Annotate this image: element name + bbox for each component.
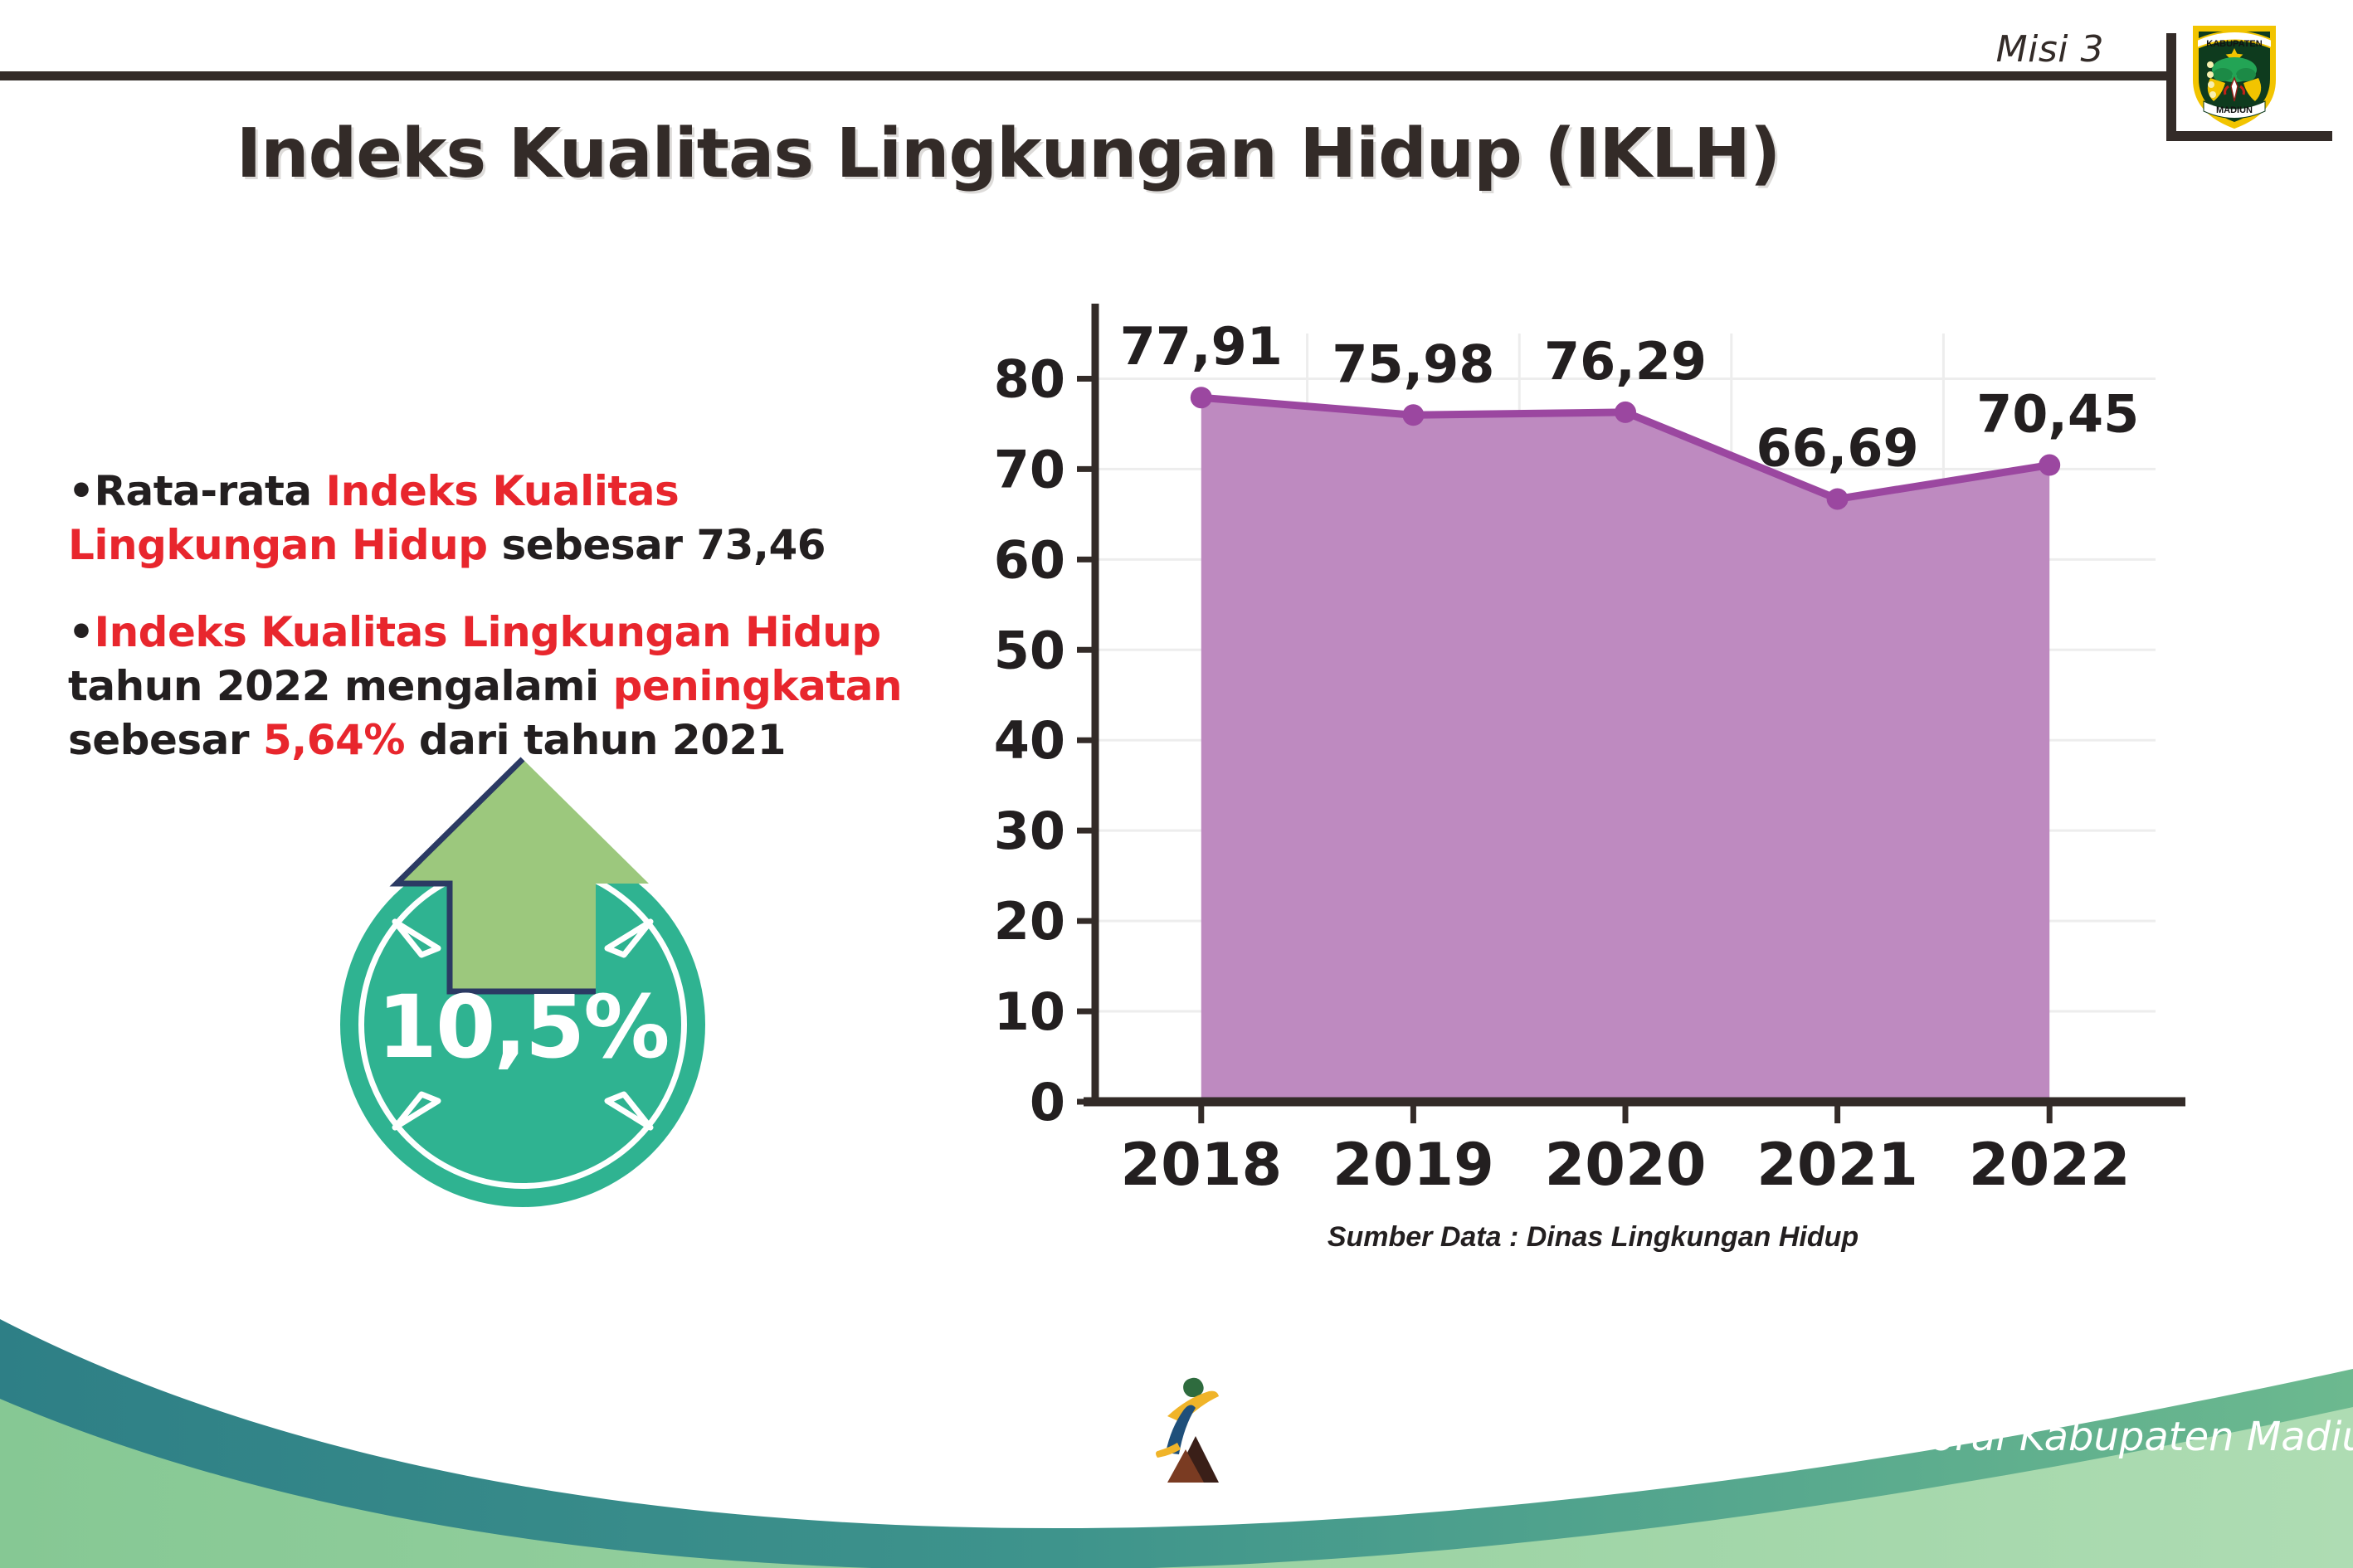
plain-text: •Rata-rata	[68, 467, 326, 515]
plain-text: sebesar 73,46	[488, 521, 826, 569]
plain-text: •	[68, 608, 94, 656]
data-point-marker	[1191, 387, 1212, 408]
footer-caption: Media Infografis Data Statistik Sektoral…	[1226, 1414, 2353, 1460]
footer-band: Media Infografis Data Statistik Sektoral…	[0, 1236, 2353, 1568]
y-axis-tick-label: 50	[994, 620, 1065, 680]
misi-label: Misi 3	[1996, 28, 2104, 71]
y-axis-tick-label: 0	[1030, 1072, 1065, 1132]
bracket-vertical-bar	[2166, 33, 2176, 141]
plain-text: sebesar	[68, 716, 263, 764]
y-axis-tick-label: 60	[994, 529, 1065, 590]
data-point-marker	[1615, 402, 1636, 423]
data-point-marker	[1402, 404, 1424, 426]
x-axis-tick-label: 2021	[1756, 1131, 1918, 1199]
y-axis-tick-label: 70	[994, 439, 1065, 499]
y-axis-tick-label: 30	[994, 801, 1065, 861]
x-axis-tick-label: 2018	[1120, 1131, 1282, 1199]
bullet-item-change: •Indeks Kualitas Lingkungan Hidup tahun …	[68, 606, 948, 767]
page-title: Indeks Kualitas Lingkungan Hidup (IKLH)	[0, 114, 2016, 193]
data-point-label: 66,69	[1756, 417, 1919, 478]
infographic-slide: Misi 3 KABUPATEN	[0, 0, 2353, 1568]
highlight-text: Indeks Kualitas Lingkungan Hidup	[94, 608, 880, 656]
bullet-item-average: •Rata-rata Indeks Kualitas Lingkungan Hi…	[68, 465, 948, 572]
svg-text:KABUPATEN: KABUPATEN	[2206, 39, 2262, 49]
data-point-marker	[1827, 488, 1849, 509]
svg-text:MADIUN: MADIUN	[2216, 105, 2253, 115]
badge-percent-label: 10,5%	[340, 976, 705, 1078]
bracket-horizontal-bar	[2166, 131, 2332, 141]
kabupaten-madiun-logo-icon: KABUPATEN MADIUN	[2185, 15, 2283, 131]
y-axis-tick-label: 20	[994, 891, 1065, 952]
data-point-marker	[2039, 455, 2060, 476]
x-axis-tick-label: 2019	[1332, 1131, 1494, 1199]
chart-area-fill	[1201, 397, 2049, 1102]
y-axis-tick-label: 10	[994, 981, 1065, 1042]
data-point-label: 76,29	[1544, 331, 1707, 392]
data-point-label: 70,45	[1976, 384, 2139, 445]
x-axis-tick-label: 2020	[1545, 1131, 1707, 1199]
iklh-area-chart: 77,9175,9876,2966,6970,45010203040506070…	[979, 282, 2207, 1203]
plain-text: tahun 2022 mengalami	[68, 662, 613, 710]
data-point-label: 75,98	[1332, 334, 1494, 394]
data-point-label: 77,91	[1120, 316, 1283, 377]
x-axis-tick-label: 2022	[1969, 1131, 2131, 1199]
y-axis-tick-label: 40	[994, 710, 1065, 771]
y-axis-tick-label: 80	[994, 348, 1065, 409]
increase-badge: 10,5%	[324, 751, 755, 1199]
header-divider-rule	[0, 71, 2167, 80]
highlight-text: peningkatan	[613, 662, 903, 710]
